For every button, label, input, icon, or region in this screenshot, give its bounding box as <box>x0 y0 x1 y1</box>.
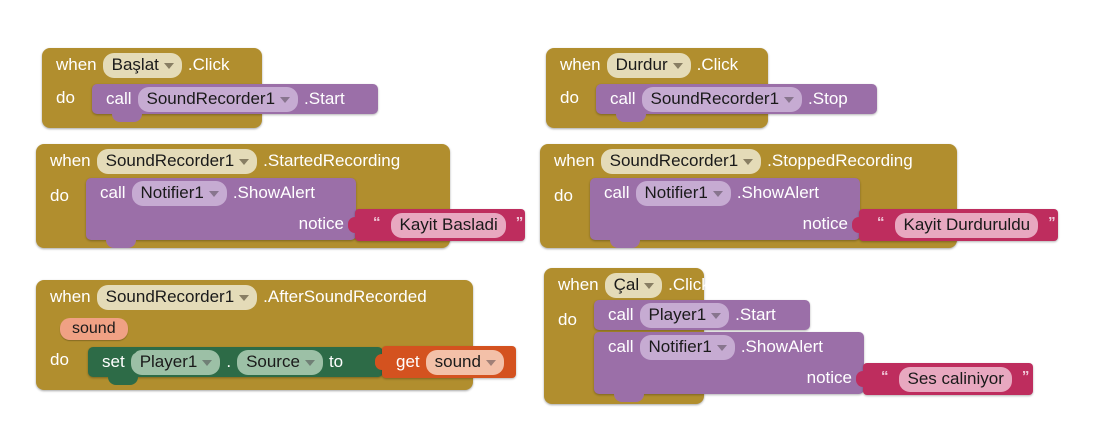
method-name: .Start <box>304 89 345 109</box>
component-name: Notifier1 <box>649 336 712 358</box>
event-name: .StartedRecording <box>263 151 400 171</box>
component-name: Player1 <box>140 351 198 373</box>
call-label: call <box>610 89 636 109</box>
quote-close-icon: ” <box>512 214 528 231</box>
event-parameter-sound[interactable]: sound <box>60 318 128 340</box>
block-notch <box>616 84 646 92</box>
component-dropdown-soundrecorder1[interactable]: SoundRecorder1 <box>601 149 762 174</box>
when-label: when <box>50 151 91 171</box>
text-block-kayit-durduruldu[interactable]: “ Kayit Durduruldu ” <box>859 209 1058 241</box>
text-value-field[interactable]: Kayit Basladi <box>391 213 506 238</box>
component-dropdown-notifier1[interactable]: Notifier1 <box>636 181 731 206</box>
block-notch <box>112 84 142 92</box>
method-name: .Start <box>735 305 776 325</box>
block-notch <box>108 347 138 355</box>
event-header: when Başlat .Click <box>42 48 262 82</box>
socket-row-notice: notice <box>590 208 860 240</box>
call-block-notifier1-showalert[interactable]: call Notifier1 .ShowAlert notice <box>590 178 860 240</box>
call-block-notifier1-showalert[interactable]: call Notifier1 .ShowAlert notice <box>594 332 864 394</box>
block-notch <box>610 178 640 186</box>
socket-label: notice <box>299 214 344 234</box>
event-name: .Click <box>697 55 739 75</box>
call-block-soundrecorder1-start[interactable]: call SoundRecorder1 .Start <box>92 84 378 114</box>
quote-open-icon: “ <box>873 214 889 231</box>
component-name: Çal <box>614 274 640 296</box>
chevron-down-icon[interactable] <box>673 63 683 69</box>
call-label: call <box>604 183 630 203</box>
component-dropdown-durdur[interactable]: Durdur <box>607 53 691 78</box>
component-dropdown-cal[interactable]: Çal <box>605 273 663 298</box>
component-dropdown-notifier1[interactable]: Notifier1 <box>640 335 735 360</box>
block-notch <box>614 332 644 340</box>
text-value-field[interactable]: Ses caliniyor <box>899 367 1012 392</box>
variable-name: sound <box>435 351 481 373</box>
block-notch-bottom <box>112 114 142 122</box>
component-dropdown-notifier1[interactable]: Notifier1 <box>132 181 227 206</box>
block-notch <box>614 300 644 308</box>
event-name: .StoppedRecording <box>767 151 913 171</box>
socket-row-notice: notice <box>86 208 356 240</box>
property-dropdown-source[interactable]: Source <box>237 350 323 375</box>
method-name: .ShowAlert <box>737 183 819 203</box>
component-dropdown-soundrecorder1[interactable]: SoundRecorder1 <box>138 87 299 112</box>
block-notch-bottom <box>614 394 644 402</box>
when-label: when <box>56 55 97 75</box>
value-plug <box>852 217 860 233</box>
chevron-down-icon[interactable] <box>280 97 290 103</box>
event-header: when SoundRecorder1 .StoppedRecording <box>540 144 957 178</box>
chevron-down-icon[interactable] <box>713 191 723 197</box>
when-label: when <box>50 287 91 307</box>
set-block-player1-source[interactable]: set Player1 . Source to <box>88 347 383 377</box>
to-label: to <box>329 352 343 372</box>
chevron-down-icon[interactable] <box>164 63 174 69</box>
component-name: Başlat <box>112 54 159 76</box>
call-block-soundrecorder1-stop[interactable]: call SoundRecorder1 .Stop <box>596 84 877 114</box>
do-label: do <box>554 186 573 206</box>
chevron-down-icon[interactable] <box>711 313 721 319</box>
component-dropdown-soundrecorder1[interactable]: SoundRecorder1 <box>97 149 258 174</box>
component-dropdown-soundrecorder1[interactable]: SoundRecorder1 <box>642 87 803 112</box>
event-name: .Click <box>188 55 230 75</box>
event-header: when SoundRecorder1 .AfterSoundRecorded <box>36 280 473 314</box>
component-dropdown-baslat[interactable]: Başlat <box>103 53 182 78</box>
chevron-down-icon[interactable] <box>784 97 794 103</box>
blocks-workspace[interactable]: when Başlat .Click do call SoundRecorder… <box>0 0 1094 444</box>
call-label: call <box>100 183 126 203</box>
socket-label: notice <box>803 214 848 234</box>
block-notch <box>106 178 136 186</box>
chevron-down-icon[interactable] <box>202 360 212 366</box>
component-name: Notifier1 <box>141 182 204 204</box>
component-dropdown-soundrecorder1[interactable]: SoundRecorder1 <box>97 285 258 310</box>
component-name: SoundRecorder1 <box>106 286 235 308</box>
when-label: when <box>554 151 595 171</box>
call-label: call <box>608 337 634 357</box>
component-name: SoundRecorder1 <box>147 88 276 110</box>
component-dropdown-player1[interactable]: Player1 <box>131 350 221 375</box>
chevron-down-icon[interactable] <box>305 360 315 366</box>
event-header: when Durdur .Click <box>546 48 768 82</box>
text-value-field[interactable]: Kayit Durduruldu <box>895 213 1039 238</box>
event-header: when Çal .Click <box>544 268 704 302</box>
quote-open-icon: “ <box>877 368 893 385</box>
when-label: when <box>560 55 601 75</box>
chevron-down-icon[interactable] <box>743 159 753 165</box>
value-plug <box>375 354 383 370</box>
value-plug <box>856 371 864 387</box>
chevron-down-icon[interactable] <box>239 295 249 301</box>
call-label: call <box>106 89 132 109</box>
component-name: Notifier1 <box>645 182 708 204</box>
get-label: get <box>396 352 420 372</box>
method-name: .Stop <box>808 89 848 109</box>
value-plug <box>348 217 356 233</box>
socket-row-notice: notice <box>594 362 864 394</box>
get-block-sound[interactable]: get sound <box>382 346 516 378</box>
call-block-notifier1-showalert[interactable]: call Notifier1 .ShowAlert notice <box>86 178 356 240</box>
when-label: when <box>558 275 599 295</box>
chevron-down-icon[interactable] <box>239 159 249 165</box>
event-name: .AfterSoundRecorded <box>263 287 427 307</box>
block-notch-bottom <box>108 377 138 385</box>
chevron-down-icon[interactable] <box>717 345 727 351</box>
block-notch-bottom <box>610 240 640 248</box>
do-label: do <box>50 350 69 370</box>
method-name: .ShowAlert <box>741 337 823 357</box>
text-block-kayit-basladi[interactable]: “ Kayit Basladi ” <box>355 209 525 241</box>
chevron-down-icon[interactable] <box>209 191 219 197</box>
call-block-player1-start[interactable]: call Player1 .Start <box>594 300 810 330</box>
chevron-down-icon[interactable] <box>644 283 654 289</box>
component-dropdown-player1[interactable]: Player1 <box>640 303 730 328</box>
do-label: do <box>560 88 579 108</box>
component-name: SoundRecorder1 <box>610 150 739 172</box>
do-label: do <box>56 88 75 108</box>
set-label: set <box>102 352 125 372</box>
block-notch-bottom <box>616 114 646 122</box>
event-name: .Click <box>668 275 710 295</box>
chevron-down-icon[interactable] <box>486 360 496 366</box>
block-notch-bottom <box>106 240 136 248</box>
do-label: do <box>558 310 577 330</box>
quote-close-icon: ” <box>1018 368 1034 385</box>
do-label: do <box>50 186 69 206</box>
variable-dropdown-sound[interactable]: sound <box>426 350 504 375</box>
quote-open-icon: “ <box>369 214 385 231</box>
property-name: Source <box>246 351 300 373</box>
component-name: Player1 <box>649 304 707 326</box>
component-name: SoundRecorder1 <box>651 88 780 110</box>
event-parameter-row: sound <box>36 314 473 344</box>
component-name: SoundRecorder1 <box>106 150 235 172</box>
call-label: call <box>608 305 634 325</box>
socket-label: notice <box>807 368 852 388</box>
method-name: .ShowAlert <box>233 183 315 203</box>
quote-close-icon: ” <box>1044 214 1060 231</box>
dot-separator: . <box>226 352 231 372</box>
event-header: when SoundRecorder1 .StartedRecording <box>36 144 450 178</box>
text-block-ses-caliniyor[interactable]: “ Ses caliniyor ” <box>863 363 1033 395</box>
component-name: Durdur <box>616 54 668 76</box>
